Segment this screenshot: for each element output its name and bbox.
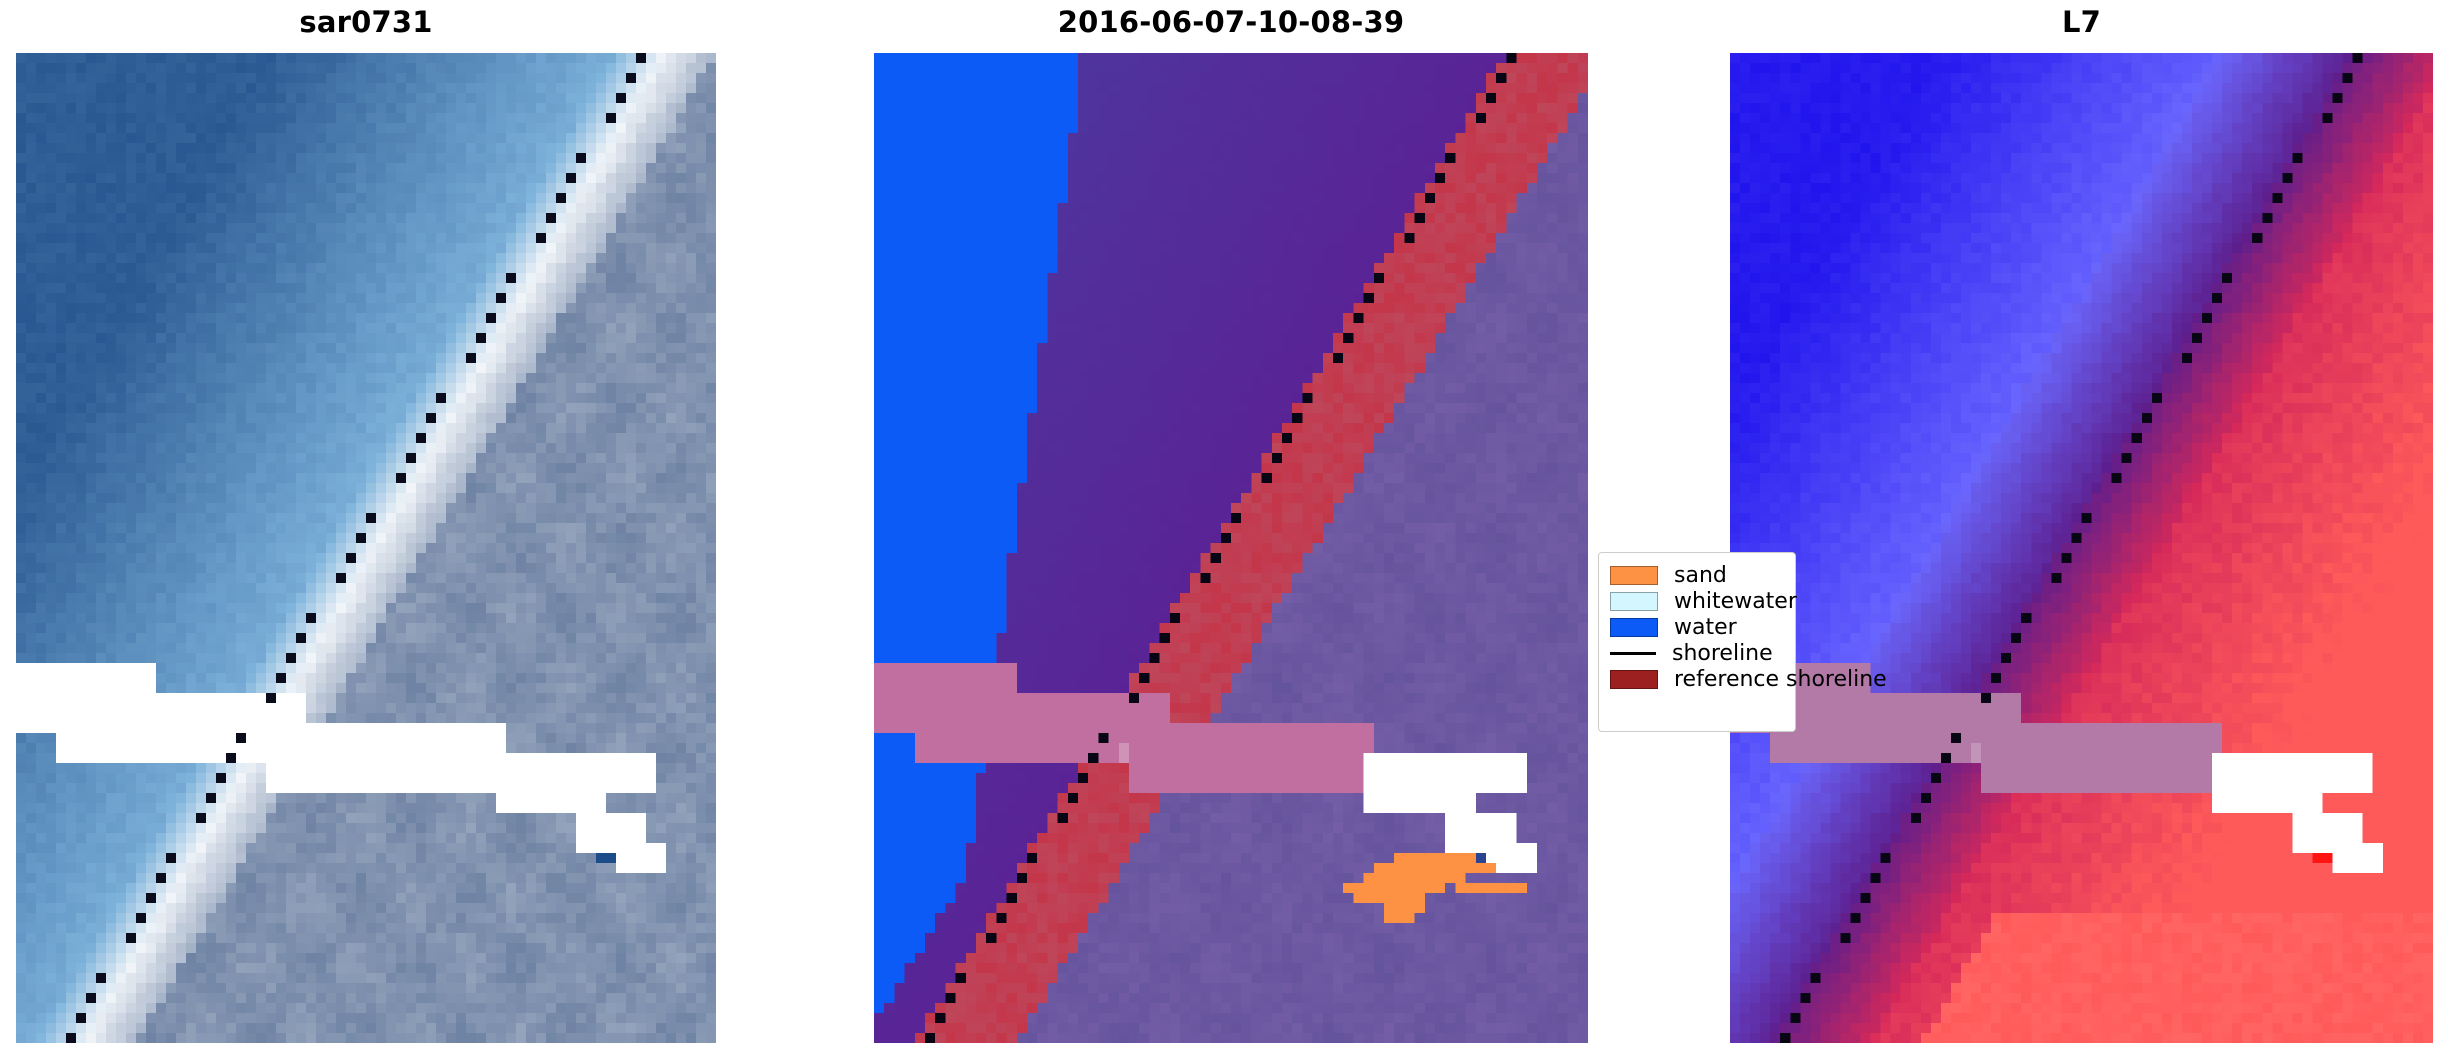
reference-shoreline-swatch xyxy=(1610,670,1658,689)
classified-image xyxy=(874,53,1588,1043)
legend-item-reference-shoreline[interactable]: reference shoreline xyxy=(1610,666,1785,692)
panel-title-sar0731: sar0731 xyxy=(16,8,716,37)
legend-item-sand[interactable]: sand xyxy=(1610,562,1785,588)
legend-label-shoreline: shoreline xyxy=(1672,641,1773,666)
l7-image xyxy=(1730,53,2433,1043)
legend-label-water: water xyxy=(1674,615,1737,640)
figure-canvas: sar0731 2016-06-07-10-08-39 L7 sand whit… xyxy=(0,0,2460,1062)
panel-sar0731[interactable] xyxy=(16,53,716,1043)
legend-label-sand: sand xyxy=(1674,563,1727,588)
sand-swatch xyxy=(1610,566,1658,585)
legend-label-whitewater: whitewater xyxy=(1674,589,1797,614)
legend-box: sand whitewater water shoreline referenc… xyxy=(1598,552,1796,732)
panel-classified[interactable] xyxy=(874,53,1588,1043)
legend-label-reference-shoreline: reference shoreline xyxy=(1674,667,1887,692)
panel-title-l7: L7 xyxy=(1730,8,2433,37)
panel-l7[interactable] xyxy=(1730,53,2433,1043)
whitewater-swatch xyxy=(1610,592,1658,611)
panel-title-classified: 2016-06-07-10-08-39 xyxy=(874,8,1588,37)
legend-item-shoreline[interactable]: shoreline xyxy=(1610,640,1785,666)
shoreline-line-swatch xyxy=(1610,652,1656,655)
sar-image xyxy=(16,53,716,1043)
legend-item-water[interactable]: water xyxy=(1610,614,1785,640)
water-swatch xyxy=(1610,618,1658,637)
legend-item-whitewater[interactable]: whitewater xyxy=(1610,588,1785,614)
